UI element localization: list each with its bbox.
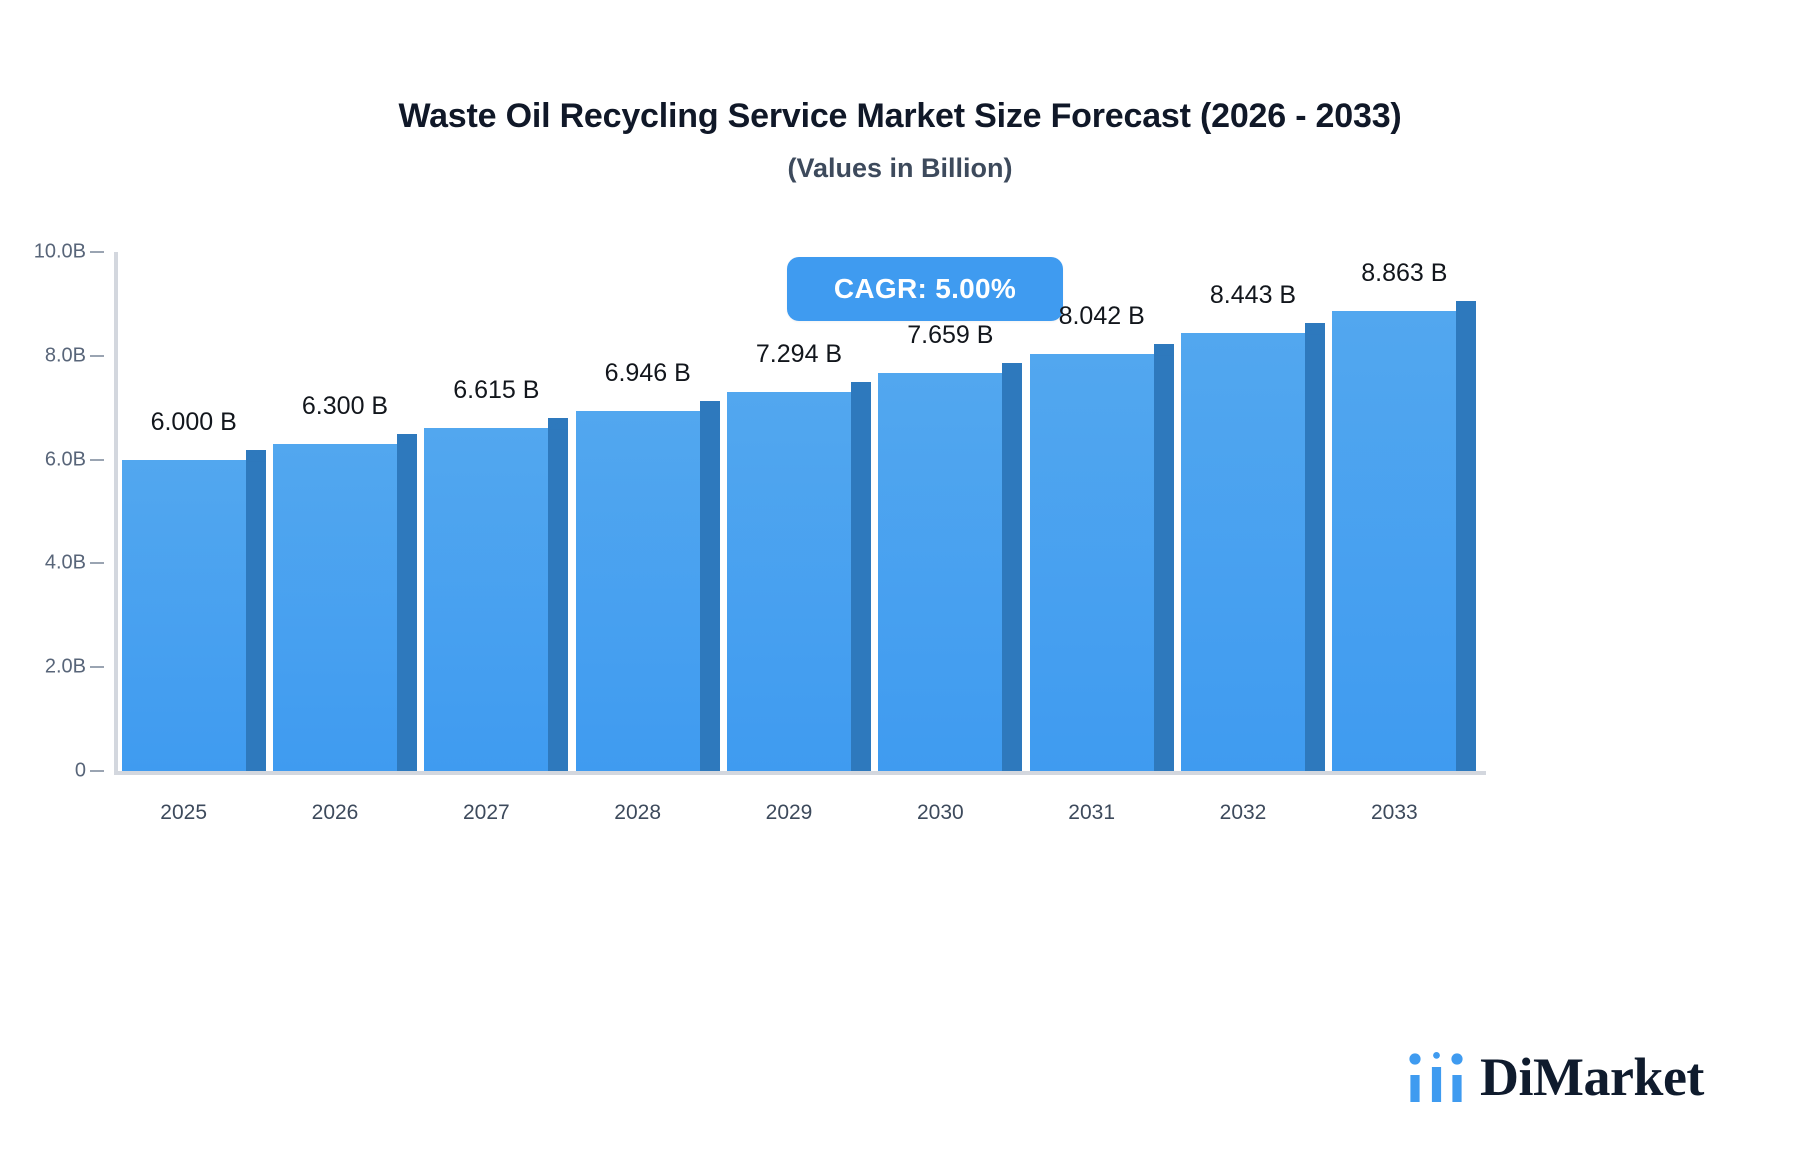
brand-logo-text: DiMarket — [1480, 1050, 1704, 1104]
bar-side-shading — [1154, 344, 1174, 771]
x-axis-tick-label: 2025 — [160, 801, 207, 825]
bar-front-face — [273, 444, 397, 771]
x-axis-tick-label: 2031 — [1068, 801, 1115, 825]
x-axis-tick-label: 2029 — [766, 801, 813, 825]
y-axis-tick-label: 4.0B — [8, 552, 86, 575]
brand-logo: DiMarket — [1408, 1050, 1704, 1104]
bar-side-shading — [1305, 323, 1325, 771]
bar-front-face — [1332, 311, 1456, 771]
bar: 8.443 B2032 — [1181, 281, 1325, 831]
bar-side-shading — [397, 434, 417, 771]
y-axis-tick-label: 2.0B — [8, 656, 86, 679]
y-axis-line — [114, 252, 118, 775]
x-axis-tick-label: 2028 — [614, 801, 661, 825]
bar: 8.863 B2033 — [1332, 259, 1476, 831]
bar-front-face — [1030, 354, 1154, 771]
bar-side-shading — [1002, 363, 1022, 771]
y-axis-tick-label: 8.0B — [8, 344, 86, 367]
y-axis-tick-mark — [90, 562, 104, 564]
bar-side-shading — [851, 382, 871, 771]
bar: 6.000 B2025 — [122, 408, 266, 831]
bar-value-label: 8.042 B — [1059, 302, 1145, 331]
y-axis-tick-label: 10.0B — [8, 241, 86, 264]
bar: 6.615 B2027 — [424, 376, 568, 831]
bar-value-label: 6.300 B — [302, 392, 388, 421]
y-axis-tick-label: 0 — [8, 760, 86, 783]
bar: 7.659 B2030 — [878, 321, 1022, 831]
bar-side-shading — [548, 418, 568, 771]
bar-value-label: 6.946 B — [605, 359, 691, 388]
bar-front-face — [727, 392, 851, 771]
x-axis-tick-label: 2026 — [312, 801, 359, 825]
bar: 6.946 B2028 — [576, 359, 720, 831]
y-axis-tick-mark — [90, 459, 104, 461]
y-axis-tick-mark — [90, 355, 104, 357]
x-axis-tick-label: 2032 — [1220, 801, 1267, 825]
bar-front-face — [1181, 333, 1305, 771]
x-axis-tick-label: 2033 — [1371, 801, 1418, 825]
chart-plot-area: 10.0B8.0B6.0B4.0B2.0B06.000 B20256.300 B… — [0, 0, 1800, 1156]
bar-side-shading — [246, 450, 266, 771]
y-axis-tick-mark — [90, 770, 104, 772]
bar-value-label: 8.443 B — [1210, 281, 1296, 310]
bar-front-face — [878, 373, 1002, 771]
bar-side-shading — [1456, 301, 1476, 771]
y-axis-tick-mark — [90, 251, 104, 253]
bar-value-label: 8.863 B — [1361, 259, 1447, 288]
bar-side-shading — [700, 401, 720, 771]
bar-value-label: 6.615 B — [453, 376, 539, 405]
bar-front-face — [576, 411, 700, 771]
bar-front-face — [424, 428, 548, 771]
y-axis-tick-label: 6.0B — [8, 448, 86, 471]
bar: 8.042 B2031 — [1030, 302, 1174, 831]
bar: 6.300 B2026 — [273, 392, 417, 831]
bar: 7.294 B2029 — [727, 340, 871, 831]
x-axis-tick-label: 2027 — [463, 801, 510, 825]
y-axis-tick-mark — [90, 666, 104, 668]
bar-front-face — [122, 460, 246, 771]
bar-value-label: 7.659 B — [907, 321, 993, 350]
bar-chart-dots-icon — [1408, 1052, 1466, 1102]
x-axis-tick-label: 2030 — [917, 801, 964, 825]
bar-value-label: 7.294 B — [756, 340, 842, 369]
bar-value-label: 6.000 B — [151, 408, 237, 437]
